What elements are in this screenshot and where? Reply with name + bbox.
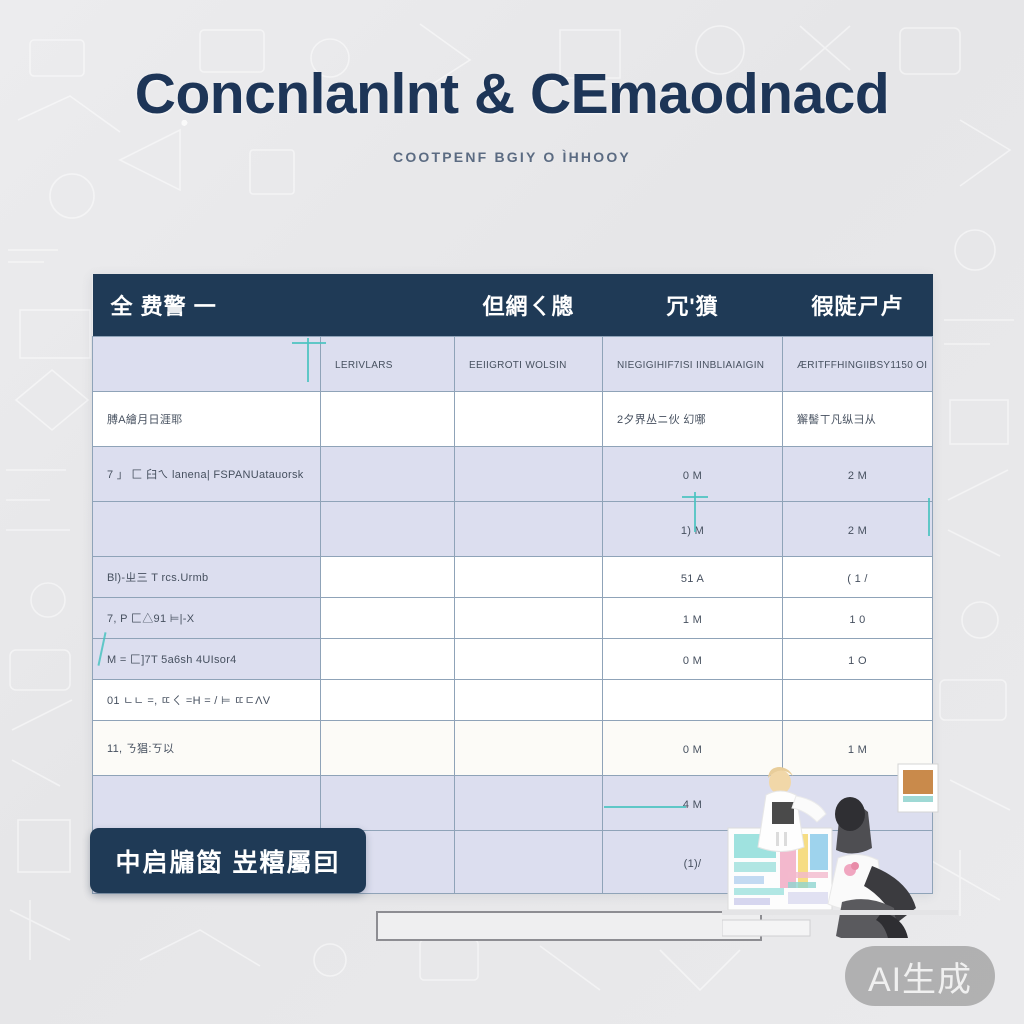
table-row[interactable]: M = 匚]7T 5a6sh 4UIsor40 M1 O [93,639,933,680]
cell-text: 0 M [683,744,702,756]
desk-worker-illustration [722,762,958,938]
cell-text: (1)/ [684,858,702,870]
table-cell-r4-c2 [455,557,603,598]
table-cell-r7-c4 [783,680,933,721]
primary-cta-button[interactable]: 中启牖笝 岦糦屬囙 [90,828,366,893]
table-cell-r2-c3: 0 M [603,447,783,502]
table-cell-r0-c4: ÆRITFFHINGIIBSY1150 OI [783,337,933,392]
table-cell-r6-c0: M = 匚]7T 5a6sh 4UIsor4 [93,639,321,680]
column-header-3[interactable]: 冗'獖 [603,274,783,337]
table-row[interactable]: 1) M2 M [93,502,933,557]
table-cell-r1-c1 [321,392,455,447]
document-header: Concnlanlnt & CEmaodnacd COOTPENF BGIY O… [0,66,1024,165]
teal-accent-mark-2 [292,342,326,344]
table-row[interactable]: 膊A繪月日涯耶2夕界丛ニ伙 幻哪獬髻ㄒ凡纵彐从 [93,392,933,447]
ai-watermark-label: AI生成 [868,952,972,1001]
table-cell-r0-c2: EEIIGROTI WOLSIN [455,337,603,392]
table-cell-r10-c2 [455,831,603,894]
table-cell-r5-c0: 7, Ρ 匚△91 ⊨|-X [93,598,321,639]
cell-text: M = 匚]7T 5a6sh 4UIsor4 [107,651,237,667]
cell-text: ( 1 / [847,573,867,585]
column-header-4[interactable]: 徦陡ㄕ卢 [783,274,933,337]
page-title: Concnlanlnt & CEmaodnacd [0,66,1024,123]
teal-accent-mark-3 [694,492,696,532]
cell-text: 2 M [848,525,867,537]
table-cell-r2-c0: 7 」 匚 臼ㄟ lanena| FSPANUatauorsk [93,447,321,502]
teal-accent-mark-7 [604,806,686,808]
table-cell-r0-c0 [93,337,321,392]
cell-text: 0 M [683,655,702,667]
cell-text: 1) M [681,525,704,537]
column-header-1[interactable] [321,274,455,337]
table-cell-r1-c0: 膊A繪月日涯耶 [93,392,321,447]
cell-text: 1 O [848,655,867,667]
table-cell-r3-c2 [455,502,603,557]
table-row[interactable]: LERIVLARSEEIIGROTI WOLSINNIEGIGIHIF7ISI … [93,337,933,392]
cell-text: 膊A繪月日涯耶 [107,411,182,427]
table-row[interactable]: 01 ㄴㄴ =, ㄸㄑ =H = / ⊨ ㄸㄷΛV [93,680,933,721]
table-cell-r7-c0: 01 ㄴㄴ =, ㄸㄑ =H = / ⊨ ㄸㄷΛV [93,680,321,721]
table-cell-r4-c4: ( 1 / [783,557,933,598]
table-cell-r7-c2 [455,680,603,721]
column-header-0[interactable]: 全 费警 一 [93,274,321,337]
table-cell-r3-c4: 2 M [783,502,933,557]
table-row[interactable]: 7 」 匚 臼ㄟ lanena| FSPANUatauorsk0 M2 M [93,447,933,502]
page-subtitle: COOTPENF BGIY O ÌHHOOY [0,149,1024,165]
table-cell-r3-c0 [93,502,321,557]
cell-text: Bl)-ㄓ三 T rcs.Urmb [107,569,208,585]
table-cell-r6-c3: 0 M [603,639,783,680]
cell-text: EEIIGROTI WOLSIN [469,360,567,371]
table-cell-r9-c2 [455,776,603,831]
cell-text: NIEGIGIHIF7ISI IINBLIAIAIGIN [617,360,764,371]
cell-text: 2夕界丛ニ伙 幻哪 [617,411,706,427]
table-cell-r1-c4: 獬髻ㄒ凡纵彐从 [783,392,933,447]
cell-text: 11, ㄋ猖:ㄎ以 [107,740,174,756]
cell-text: 7, Ρ 匚△91 ⊨|-X [107,610,194,626]
table-cell-r2-c1 [321,447,455,502]
column-header-2[interactable]: 但網ㄑ牕 [455,274,603,337]
cell-text: 1 M [683,614,702,626]
table-cell-r4-c3: 51 A [603,557,783,598]
cell-text: 7 」 匚 臼ㄟ lanena| FSPANUatauorsk [107,466,304,482]
table-cell-r3-c3: 1) M [603,502,783,557]
table-cell-r7-c3 [603,680,783,721]
table-cell-r4-c0: Bl)-ㄓ三 T rcs.Urmb [93,557,321,598]
table-row[interactable]: 7, Ρ 匚△91 ⊨|-X1 M1 0 [93,598,933,639]
table-cell-r5-c3: 1 M [603,598,783,639]
table-cell-r6-c2 [455,639,603,680]
cell-text: 0 M [683,470,702,482]
table-cell-r0-c3: NIEGIGIHIF7ISI IINBLIAIAIGIN [603,337,783,392]
table-cell-r8-c1 [321,721,455,776]
teal-accent-mark-5 [928,498,930,536]
table-cell-r8-c2 [455,721,603,776]
cell-text: 2 M [848,470,867,482]
table-cell-r9-c0 [93,776,321,831]
table-cell-r6-c1 [321,639,455,680]
table-cell-r5-c1 [321,598,455,639]
cell-text: 1 M [848,744,867,756]
table-row[interactable]: Bl)-ㄓ三 T rcs.Urmb51 A( 1 / [93,557,933,598]
table-cell-r4-c1 [321,557,455,598]
table-cell-r9-c1 [321,776,455,831]
table-cell-r1-c3: 2夕界丛ニ伙 幻哪 [603,392,783,447]
teal-accent-mark-1 [307,338,309,382]
cell-text: 4 M [683,799,702,811]
teal-accent-mark-4 [682,496,708,498]
cell-text: LERIVLARS [335,360,393,371]
table-cell-r2-c4: 2 M [783,447,933,502]
table-cell-r5-c4: 1 0 [783,598,933,639]
bottom-input-bar[interactable] [376,911,762,941]
table-cell-r3-c1 [321,502,455,557]
cell-text: 51 A [681,573,704,585]
cta-button-label: 中启牖笝 岦糦屬囙 [116,843,341,879]
cell-text: 獬髻ㄒ凡纵彐从 [797,411,876,427]
cell-text: 01 ㄴㄴ =, ㄸㄑ =H = / ⊨ ㄸㄷΛV [107,692,270,708]
table-cell-r8-c0: 11, ㄋ猖:ㄎ以 [93,721,321,776]
table-header-row: 全 费警 一但網ㄑ牕冗'獖徦陡ㄕ卢 [93,274,933,337]
cell-text: ÆRITFFHINGIIBSY1150 OI [797,360,927,371]
table-cell-r7-c1 [321,680,455,721]
table-cell-r6-c4: 1 O [783,639,933,680]
ai-generated-watermark: AI生成 [845,946,995,1006]
cell-text: 1 0 [849,614,865,626]
table-cell-r1-c2 [455,392,603,447]
table-cell-r2-c2 [455,447,603,502]
table-cell-r5-c2 [455,598,603,639]
table-cell-r0-c1: LERIVLARS [321,337,455,392]
